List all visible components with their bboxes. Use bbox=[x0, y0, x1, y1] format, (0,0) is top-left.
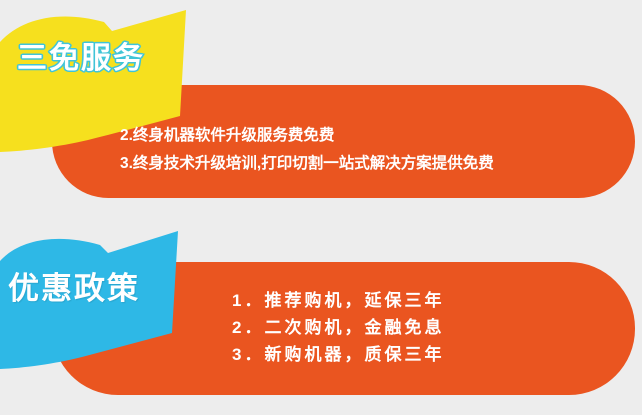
list-item: 2.终身机器软件升级服务费免费 bbox=[120, 122, 494, 150]
banner-title-free-services: 三免服务 bbox=[17, 44, 145, 74]
discount-policy-list: 1．推荐购机，延保三年 2．二次购机，金融免息 3．新购机器，质保三年 bbox=[232, 287, 444, 368]
list-item: 3．新购机器，质保三年 bbox=[232, 341, 444, 368]
list-item: 3.终身技术升级培训,打印切割一站式解决方案提供免费 bbox=[120, 150, 494, 178]
promo-poster: 三免服务 2.终身机器软件升级服务费免费 3.终身技术升级培训,打印切割一站式解… bbox=[0, 0, 642, 415]
section-free-services: 三免服务 2.终身机器软件升级服务费免费 3.终身技术升级培训,打印切割一站式解… bbox=[0, 0, 642, 207]
list-item: 2．二次购机，金融免息 bbox=[232, 314, 444, 341]
list-item: 1．推荐购机，延保三年 bbox=[232, 287, 444, 314]
free-services-list: 2.终身机器软件升级服务费免费 3.终身技术升级培训,打印切割一站式解决方案提供… bbox=[120, 122, 494, 178]
banner-title-discount-policy: 优惠政策 bbox=[8, 273, 140, 304]
